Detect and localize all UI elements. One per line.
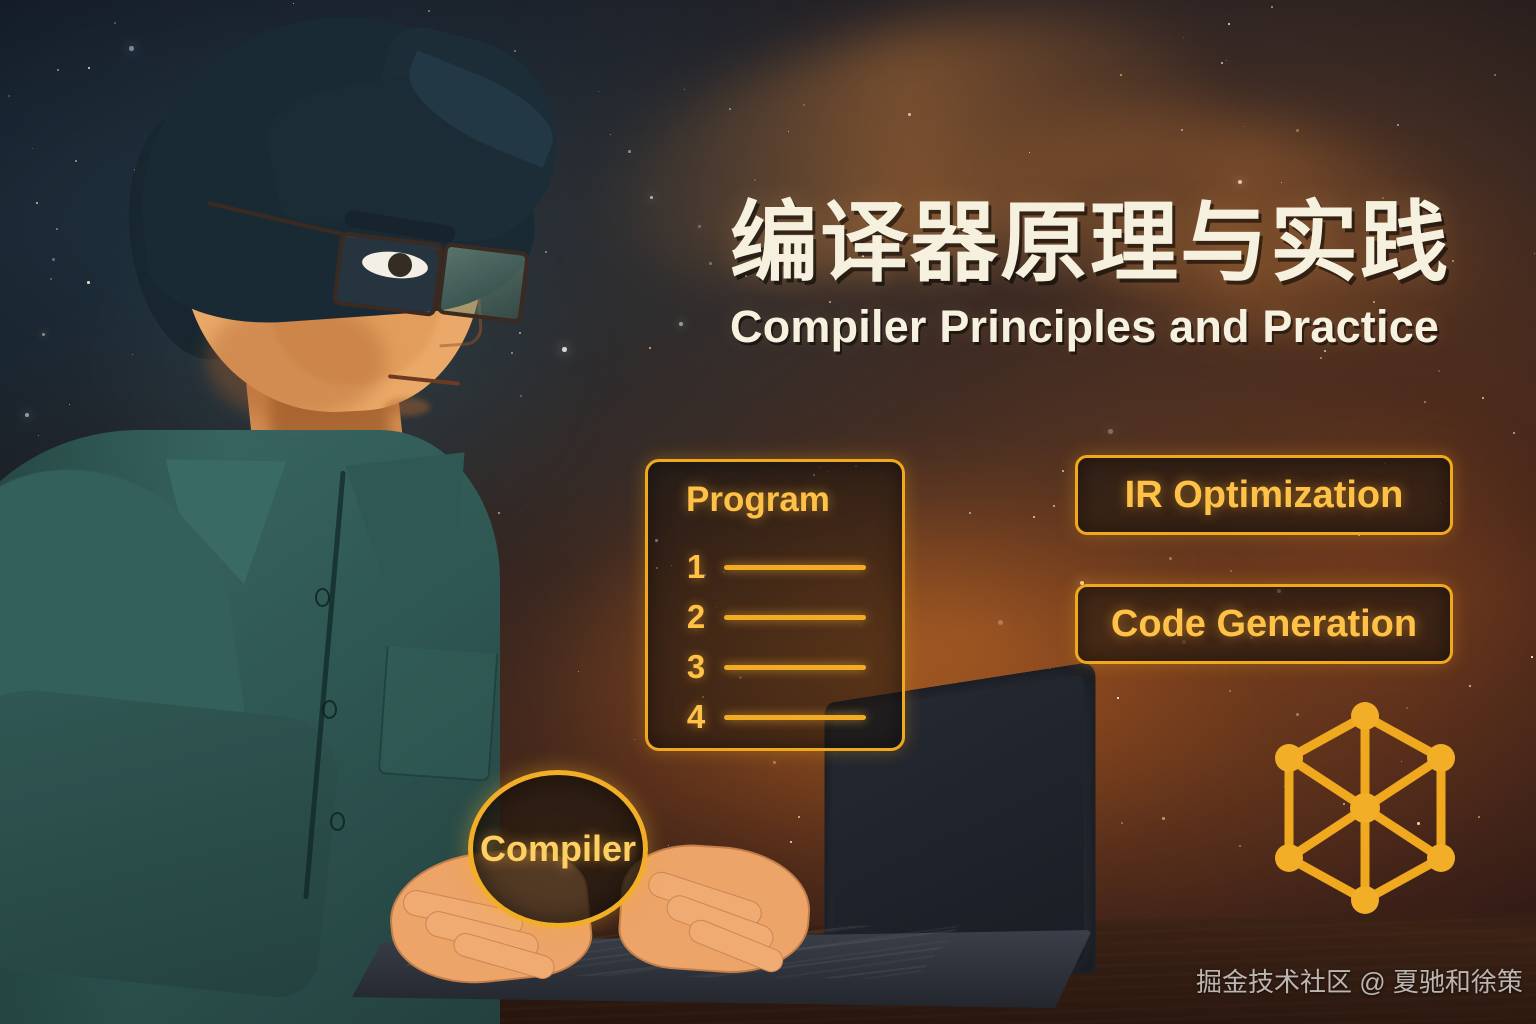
program-card-title: Program — [686, 480, 830, 520]
shirt-button — [322, 700, 337, 719]
program-line-row: 3 — [686, 648, 866, 686]
poster-canvas: 编译器原理与实践 Compiler Principles and Practic… — [0, 0, 1536, 1024]
shirt-button — [330, 812, 345, 831]
program-line-number: 2 — [686, 598, 706, 636]
graph-node — [1275, 744, 1303, 772]
program-line-number: 3 — [686, 648, 706, 686]
badge-label: Code Generation — [1111, 603, 1417, 646]
arm — [0, 679, 343, 1001]
badge-code-generation[interactable]: Code Generation — [1075, 584, 1453, 664]
chin — [384, 398, 430, 416]
compiler-circle-badge[interactable]: Compiler — [468, 770, 648, 928]
program-code-line — [724, 565, 866, 570]
badge-ir-optimization[interactable]: IR Optimization — [1075, 455, 1453, 535]
page-title-en: Compiler Principles and Practice — [730, 301, 1536, 353]
glasses-lens-left — [332, 231, 444, 317]
hexagon-node-graph-icon — [1265, 700, 1465, 916]
glasses-lens-right — [436, 242, 530, 324]
shirt-pocket — [378, 646, 499, 782]
headline-block: 编译器原理与实践 Compiler Principles and Practic… — [730, 198, 1536, 353]
watermark-credit: 掘金技术社区 @ 夏驰和徐策 — [1196, 962, 1523, 999]
graph-node-center — [1350, 793, 1380, 823]
program-line-row: 2 — [686, 598, 866, 636]
page-title-cn: 编译器原理与实践 — [730, 198, 1536, 289]
shirt-button — [315, 588, 330, 607]
badge-label: IR Optimization — [1125, 474, 1404, 517]
graph-node — [1427, 744, 1455, 772]
program-code-line — [724, 715, 866, 720]
program-code-line — [724, 615, 866, 620]
graph-node — [1351, 702, 1379, 730]
hexagon-graph-svg — [1265, 700, 1465, 916]
program-line-row: 1 — [686, 548, 866, 586]
compiler-circle-label: Compiler — [480, 828, 636, 870]
program-code-line — [724, 665, 866, 670]
graph-node — [1275, 844, 1303, 872]
program-card[interactable]: Program 1 2 3 4 — [645, 459, 905, 751]
program-line-number: 1 — [686, 548, 706, 586]
program-line-number: 4 — [686, 698, 706, 736]
program-line-row: 4 — [686, 698, 866, 736]
graph-node — [1427, 844, 1455, 872]
graph-node — [1351, 886, 1379, 914]
